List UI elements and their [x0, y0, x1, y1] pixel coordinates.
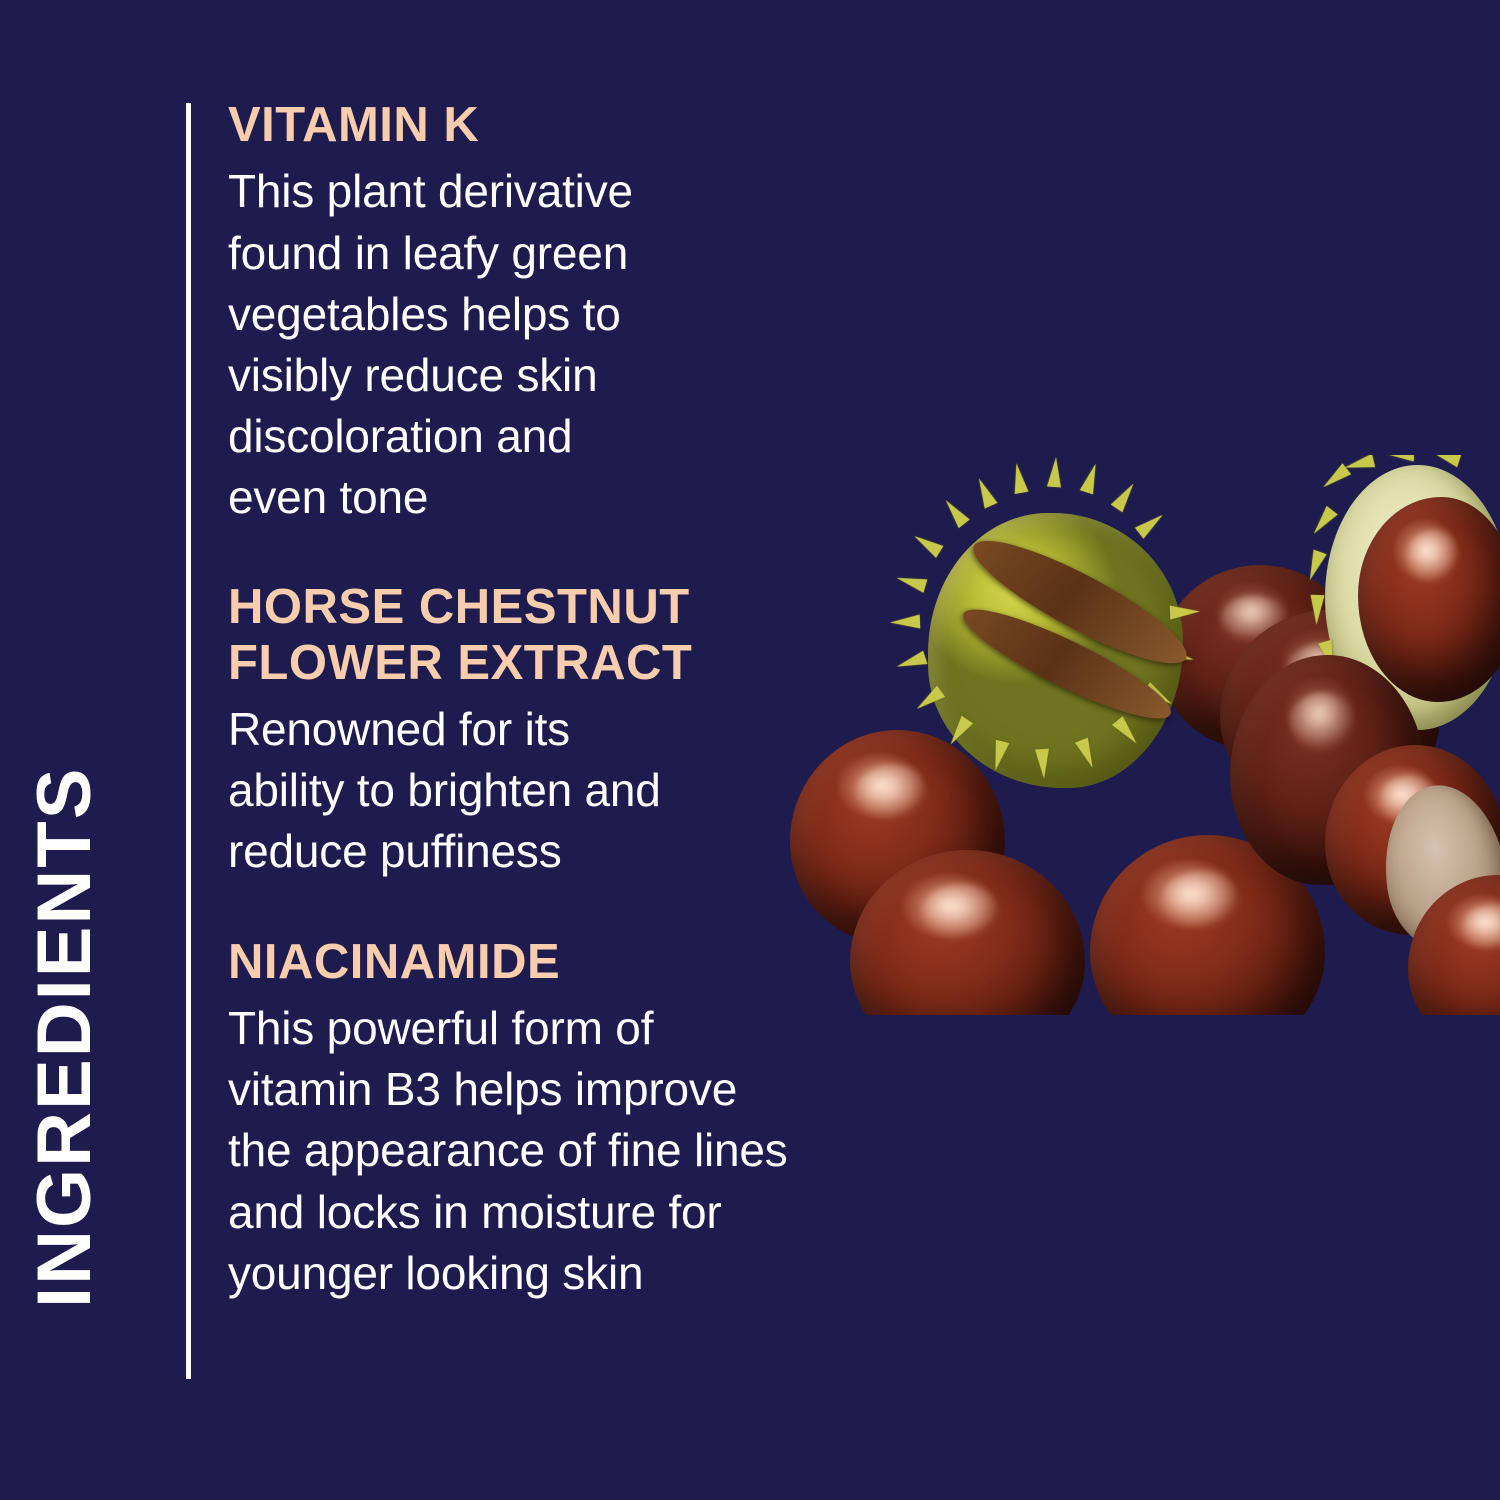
body-line: the appearance of fine lines — [228, 1120, 968, 1181]
heading-line: VITAMIN K — [228, 98, 968, 153]
body-line: This plant derivative — [228, 161, 968, 222]
infographic-panel: INGREDIENTS VITAMIN K This plant derivat… — [0, 0, 1500, 1500]
body-line: visibly reduce skin — [228, 345, 968, 406]
side-label-area: INGREDIENTS — [0, 0, 190, 1500]
vertical-divider-rule — [186, 103, 191, 1379]
ingredients-vertical-label: INGREDIENTS — [27, 768, 103, 1308]
body-line: younger looking skin — [228, 1243, 968, 1304]
horse-chestnut-photo — [780, 455, 1500, 1015]
body-line: vegetables helps to — [228, 284, 968, 345]
body-line: and locks in moisture for — [228, 1182, 968, 1243]
body-line: found in leafy green — [228, 223, 968, 284]
ingredient-description: This powerful form of vitamin B3 helps i… — [228, 998, 968, 1304]
body-line: vitamin B3 helps improve — [228, 1059, 968, 1120]
ingredient-heading: VITAMIN K — [228, 98, 968, 153]
